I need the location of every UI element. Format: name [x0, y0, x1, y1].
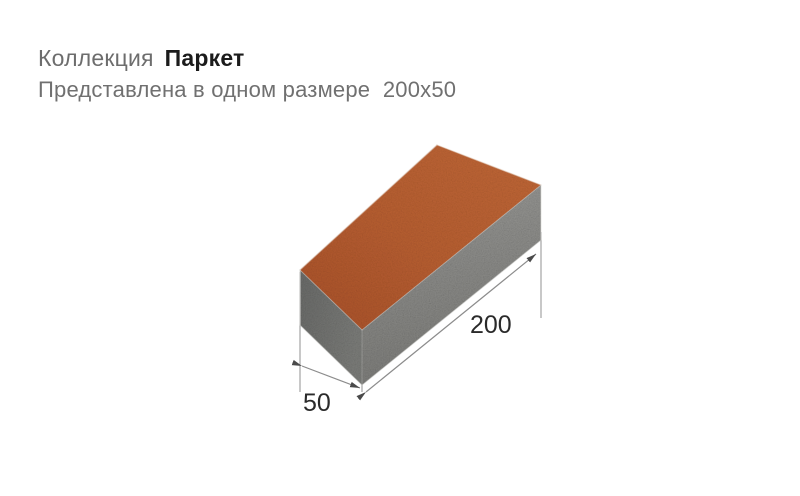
screenshot-canvas: КоллекцияПаркет Представлена в одном раз… — [0, 0, 800, 496]
paving-block-illustration: 200 50 — [0, 0, 800, 496]
block-solid — [300, 145, 541, 385]
dimension-width-label: 50 — [303, 389, 331, 417]
dimension-length-label: 200 — [470, 311, 512, 339]
